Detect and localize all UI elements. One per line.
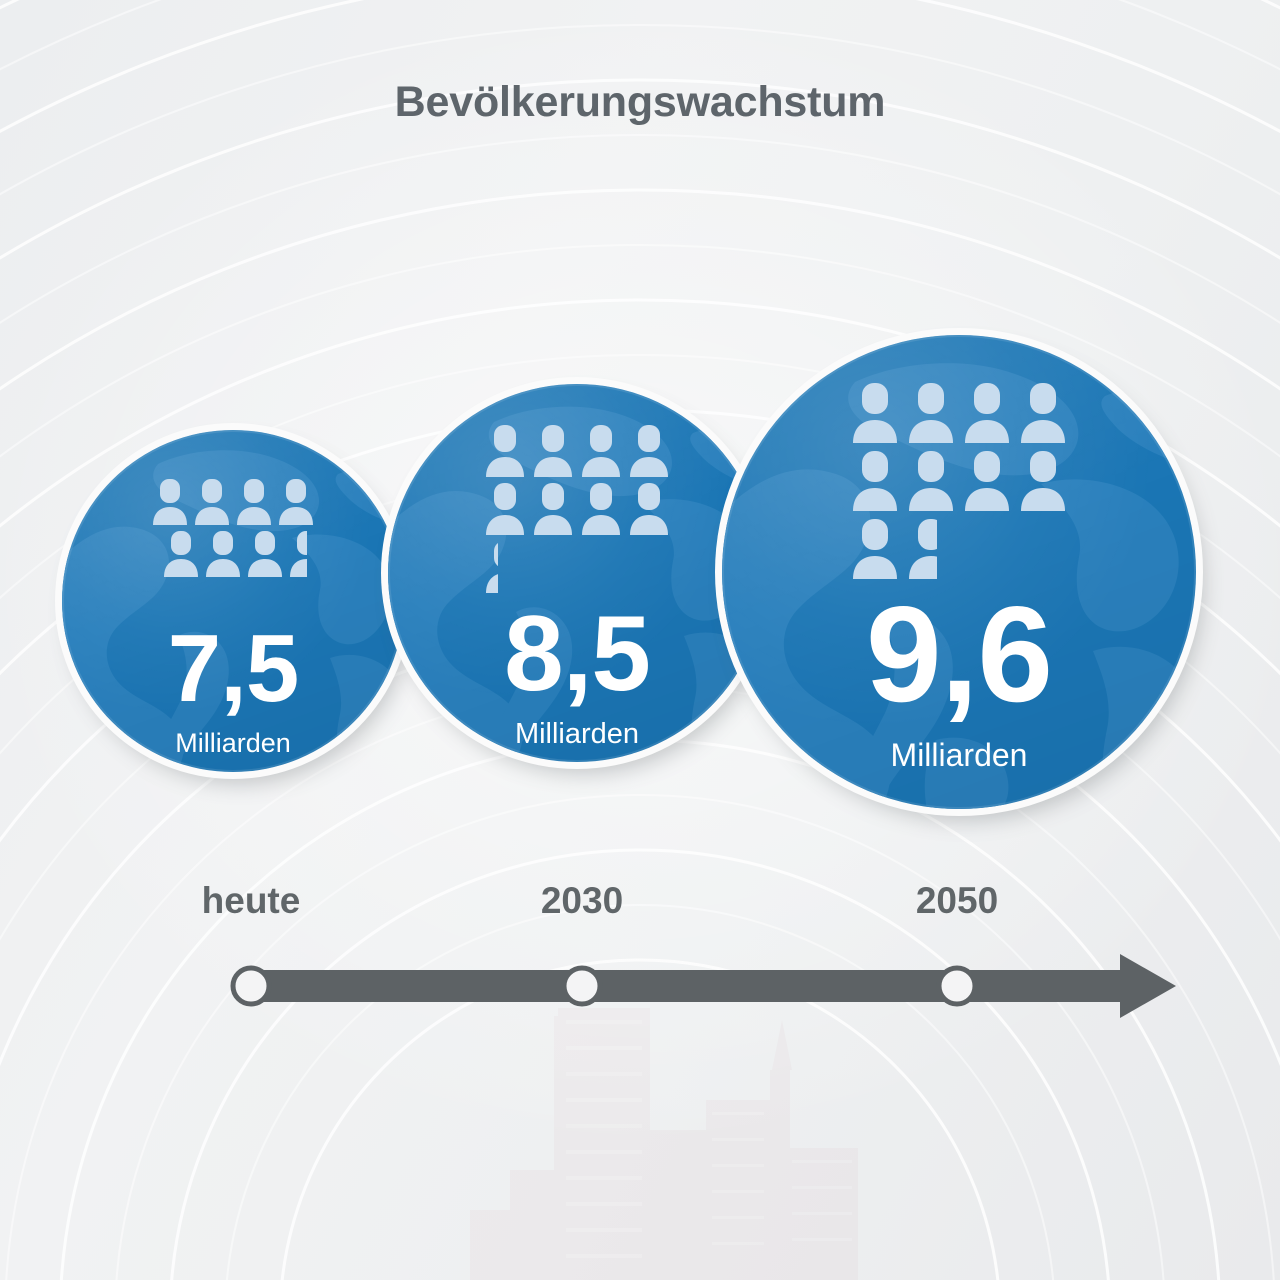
person-icon-cell xyxy=(1015,379,1071,447)
people-row xyxy=(481,538,673,596)
person-icon-cell xyxy=(160,528,202,580)
people-row xyxy=(481,422,673,480)
person-icon-cell xyxy=(625,422,673,480)
person-icon xyxy=(625,422,673,480)
person-icon xyxy=(577,480,625,538)
globe-heute[interactable]: 7,5 Milliarden xyxy=(62,430,404,772)
person-icon xyxy=(959,379,1015,447)
person-icon xyxy=(481,422,529,480)
person-icon xyxy=(847,515,903,583)
person-icon xyxy=(847,379,903,447)
person-icon-cell xyxy=(903,447,959,515)
person-icon-cell xyxy=(275,476,317,528)
people-row xyxy=(481,480,673,538)
people-pictogram-heute xyxy=(62,476,404,580)
globe-2050[interactable]: 9,6 Milliarden xyxy=(722,335,1196,809)
person-icon-cell xyxy=(529,480,577,538)
person-icon xyxy=(202,528,244,580)
person-icon xyxy=(577,422,625,480)
people-row xyxy=(847,379,1071,447)
person-icon xyxy=(1015,379,1071,447)
person-icon xyxy=(191,476,233,528)
arrow-right-icon xyxy=(1120,954,1176,1018)
people-row xyxy=(160,528,307,580)
person-icon xyxy=(481,538,498,596)
timeline-marker-2050[interactable] xyxy=(939,968,975,1004)
person-icon-cell xyxy=(244,528,286,580)
timeline-marker-2030[interactable] xyxy=(564,968,600,1004)
globe-unit-2030: Milliarden xyxy=(388,718,766,751)
page-title: Bevölkerungswachstum xyxy=(0,78,1280,127)
person-icon xyxy=(959,447,1015,515)
person-icon xyxy=(903,447,959,515)
people-pictogram-2030 xyxy=(388,422,766,596)
person-icon-cell-partial xyxy=(481,538,498,596)
timeline-labels: heute 2030 2050 xyxy=(0,880,1280,940)
people-row xyxy=(847,515,1071,583)
person-icon xyxy=(529,480,577,538)
person-icon-cell xyxy=(481,480,529,538)
person-icon-cell-partial xyxy=(903,515,937,583)
person-icon-cell xyxy=(529,422,577,480)
person-icon xyxy=(903,515,937,583)
person-icon-cell xyxy=(625,480,673,538)
timeline-bar xyxy=(250,970,1130,1002)
globe-unit-2050: Milliarden xyxy=(722,737,1196,774)
person-icon-cell xyxy=(577,422,625,480)
person-icon xyxy=(233,476,275,528)
globe-value-2050: 9,6 xyxy=(722,593,1196,715)
person-icon-cell xyxy=(847,447,903,515)
person-icon xyxy=(275,476,317,528)
timeline-label-2050: 2050 xyxy=(916,880,998,922)
person-icon-cell xyxy=(149,476,191,528)
person-icon-cell xyxy=(959,447,1015,515)
person-icon-cell xyxy=(903,379,959,447)
person-icon xyxy=(481,480,529,538)
person-icon-cell xyxy=(577,480,625,538)
person-icon-cell xyxy=(202,528,244,580)
people-row xyxy=(149,476,317,528)
timeline-axis xyxy=(0,940,1280,1030)
person-icon xyxy=(160,528,202,580)
person-icon-cell xyxy=(191,476,233,528)
person-icon-cell-partial xyxy=(286,528,307,580)
globe-value-heute: 7,5 xyxy=(62,626,404,712)
infographic-canvas: Bevölkerungswachstum xyxy=(0,0,1280,1280)
timeline-label-2030: 2030 xyxy=(541,880,623,922)
person-icon-cell xyxy=(847,379,903,447)
globe-2030[interactable]: 8,5 Milliarden xyxy=(388,384,766,762)
globe-unit-heute: Milliarden xyxy=(62,728,404,759)
person-icon xyxy=(625,480,673,538)
person-icon xyxy=(847,447,903,515)
timeline-marker-heute[interactable] xyxy=(233,968,269,1004)
person-icon xyxy=(286,528,307,580)
globe-value-2030: 8,5 xyxy=(388,605,766,701)
person-icon-cell xyxy=(1015,447,1071,515)
person-icon xyxy=(529,422,577,480)
people-row xyxy=(847,447,1071,515)
person-icon-cell xyxy=(233,476,275,528)
person-icon-cell xyxy=(847,515,903,583)
person-icon xyxy=(149,476,191,528)
person-icon-cell xyxy=(481,422,529,480)
timeline-label-heute: heute xyxy=(202,880,301,922)
person-icon xyxy=(903,379,959,447)
person-icon xyxy=(1015,447,1071,515)
people-pictogram-2050 xyxy=(722,379,1196,583)
person-icon xyxy=(244,528,286,580)
person-icon-cell xyxy=(959,379,1015,447)
